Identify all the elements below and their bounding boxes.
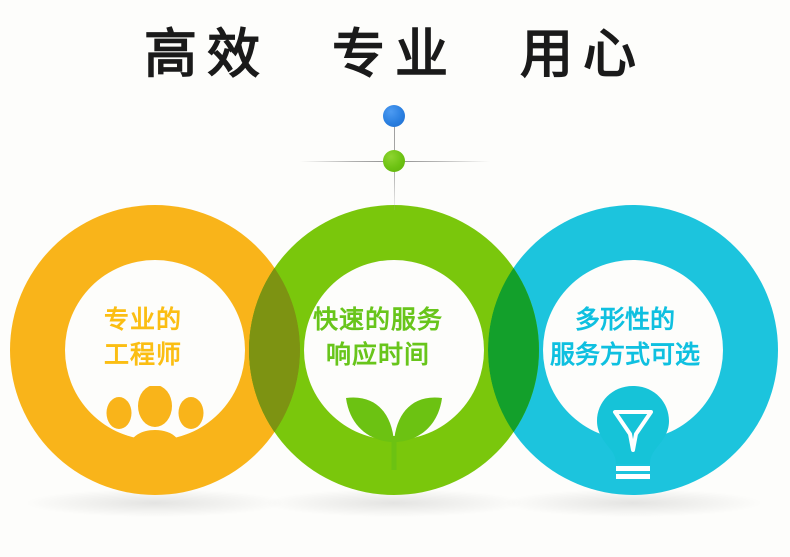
headline-word-dedicated: 用心 [520, 28, 646, 81]
circle-flexible-line-1: 多形性的 [500, 303, 750, 338]
headline-word-professional: 专业 [332, 28, 458, 81]
headline-word-efficient: 高效 [144, 28, 270, 81]
circle-response-line-1: 快速的服务 [263, 303, 493, 338]
circle-engineers-line-2: 工程师 [28, 338, 258, 373]
circle-flexible-label: 多形性的 服务方式可选 [500, 303, 750, 372]
headline: 高效 专业 用心 [0, 28, 790, 81]
sprout-leaf-icon [332, 386, 456, 470]
circle-engineers-label: 专业的 工程师 [28, 303, 258, 372]
lightbulb-icon [585, 382, 681, 482]
circle-response-line-2: 响应时间 [263, 338, 493, 373]
circle-response-label: 快速的服务 响应时间 [263, 303, 493, 372]
team-people-icon [97, 386, 213, 464]
circle-engineers-line-1: 专业的 [28, 303, 258, 338]
circle-flexible-line-2: 服务方式可选 [500, 338, 750, 373]
